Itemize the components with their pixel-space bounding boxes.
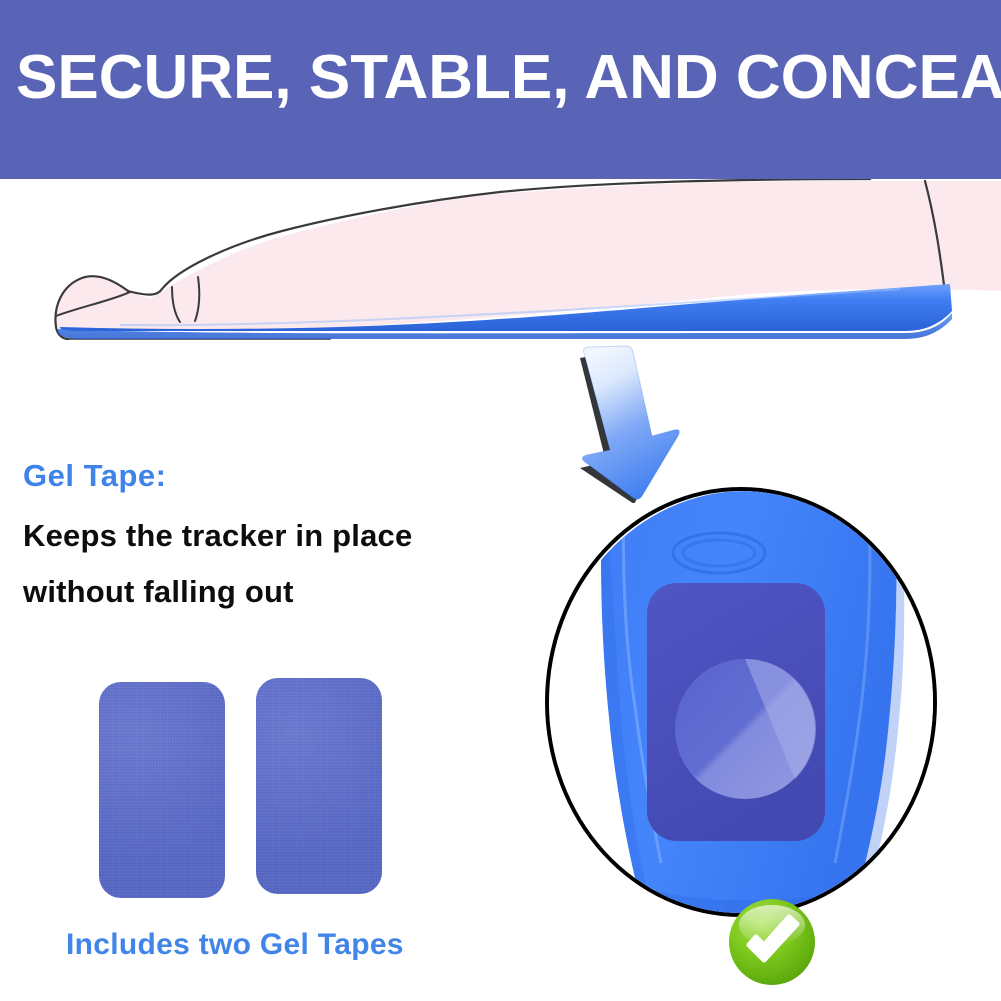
foot-illustration-svg <box>0 179 1001 354</box>
gel-tape-heading: Gel Tape: <box>23 458 166 494</box>
check-icon <box>727 897 817 987</box>
gel-tapes-caption: Includes two Gel Tapes <box>66 928 404 962</box>
gel-tape-description-line-2: without falling out <box>23 574 294 610</box>
green-check-badge <box>727 897 817 987</box>
foot-on-insole-illustration <box>0 179 1001 354</box>
infographic-canvas: SECURE, STABLE, AND CONCEALE <box>0 0 1001 1001</box>
magnifier-content <box>549 491 933 913</box>
down-arrow-icon <box>548 338 708 503</box>
header-banner: SECURE, STABLE, AND CONCEALE <box>0 0 1001 179</box>
magnified-insole-heel-cup <box>545 487 937 917</box>
gel-tape-description-line-1: Keeps the tracker in place <box>23 518 412 554</box>
magnified-insole-svg <box>549 491 937 917</box>
banner-title: SECURE, STABLE, AND CONCEALE <box>16 42 1001 114</box>
gel-tape-pad-1 <box>99 682 225 898</box>
gel-tape-pad-2 <box>256 678 382 894</box>
down-arrow <box>548 338 708 503</box>
